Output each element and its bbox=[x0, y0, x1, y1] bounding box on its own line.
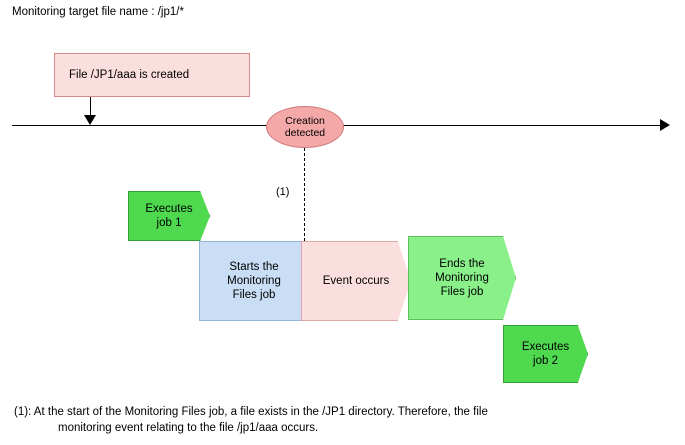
creation-detected-label-line2: detected bbox=[285, 127, 325, 139]
file-created-connector-line bbox=[90, 97, 91, 117]
starts-monitoring-label-line1: Starts the bbox=[229, 260, 278, 274]
executes-job2-node: Executes job 2 bbox=[503, 325, 588, 383]
file-created-label: File /JP1/aaa is created bbox=[69, 69, 189, 81]
starts-monitoring-label-line2: Monitoring bbox=[227, 274, 281, 288]
footnote-line1: (1): At the start of the Monitoring File… bbox=[14, 406, 488, 418]
event-occurs-label: Event occurs bbox=[323, 274, 389, 288]
executes-job2-label-line1: Executes bbox=[522, 340, 569, 354]
diagram-canvas: Monitoring target file name : /jp1/* Fil… bbox=[0, 0, 685, 445]
ends-monitoring-label-line1: Ends the bbox=[439, 257, 484, 271]
event-occurs-node: Event occurs bbox=[301, 241, 411, 321]
footnote-marker: (1) bbox=[276, 186, 289, 198]
starts-monitoring-files-job-node: Starts the Monitoring Files job bbox=[199, 241, 309, 321]
file-created-arrowhead-icon bbox=[84, 115, 96, 125]
executes-job1-node: Executes job 1 bbox=[128, 191, 210, 241]
file-created-box: File /JP1/aaa is created bbox=[54, 53, 250, 97]
ends-monitoring-label-line3: Files job bbox=[441, 285, 484, 299]
creation-detected-label-line1: Creation bbox=[285, 115, 325, 127]
time-axis-arrowhead-icon bbox=[660, 119, 670, 131]
monitoring-target-caption: Monitoring target file name : /jp1/* bbox=[12, 6, 184, 18]
creation-detected-ellipse: Creation detected bbox=[266, 106, 344, 148]
starts-monitoring-label-line3: Files job bbox=[233, 288, 276, 302]
footnote: (1): At the start of the Monitoring File… bbox=[14, 404, 654, 436]
executes-job1-label-line2: job 1 bbox=[157, 216, 182, 230]
ends-monitoring-files-job-node: Ends the Monitoring Files job bbox=[408, 236, 516, 320]
ends-monitoring-label-line2: Monitoring bbox=[435, 271, 489, 285]
footnote-line2: monitoring event relating to the file /j… bbox=[58, 420, 654, 436]
executes-job1-label-line1: Executes bbox=[145, 202, 192, 216]
executes-job2-label-line2: job 2 bbox=[533, 354, 558, 368]
